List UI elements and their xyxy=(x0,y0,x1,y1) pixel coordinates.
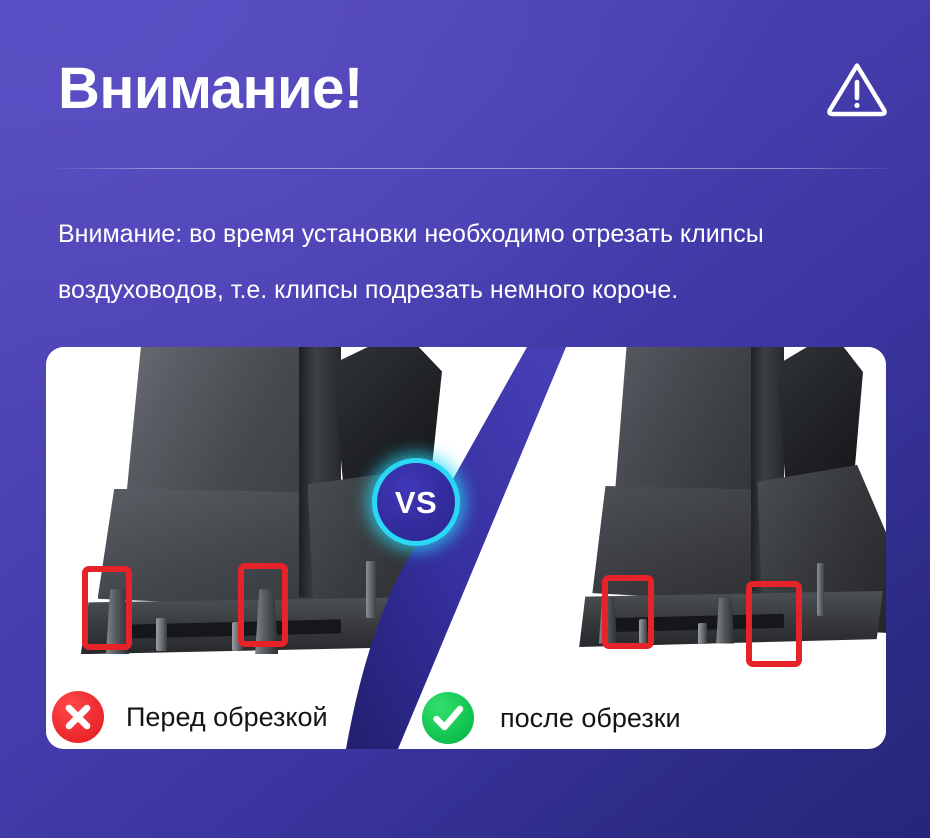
vs-label: VS xyxy=(395,487,437,518)
before-label-row: Перед обрезкой xyxy=(52,691,328,743)
cross-circle-icon xyxy=(52,691,104,743)
instruction-line-1: Внимание: во время установки необходимо … xyxy=(58,206,898,262)
after-label-row: после обрезки xyxy=(422,692,681,744)
header: Внимание! xyxy=(58,52,888,152)
instruction-text: Внимание: во время установки необходимо … xyxy=(58,206,898,318)
after-label: после обрезки xyxy=(500,703,681,734)
clip-highlight-box xyxy=(602,575,654,649)
warning-poster: Внимание! Внимание: во время установки н… xyxy=(0,0,930,838)
vs-badge: VS xyxy=(372,458,460,546)
clip-highlight-box xyxy=(746,581,802,667)
page-title: Внимание! xyxy=(58,60,363,118)
warning-triangle-icon xyxy=(826,58,888,120)
clip-highlight-box xyxy=(238,563,288,647)
clip-highlight-box xyxy=(82,566,132,650)
before-label: Перед обрезкой xyxy=(126,702,328,733)
header-divider xyxy=(58,168,888,169)
check-circle-icon xyxy=(422,692,474,744)
comparison-card xyxy=(46,347,886,749)
vs-circle: VS xyxy=(377,463,455,541)
instruction-line-2: воздуховодов, т.е. клипсы подрезать немн… xyxy=(58,262,898,318)
